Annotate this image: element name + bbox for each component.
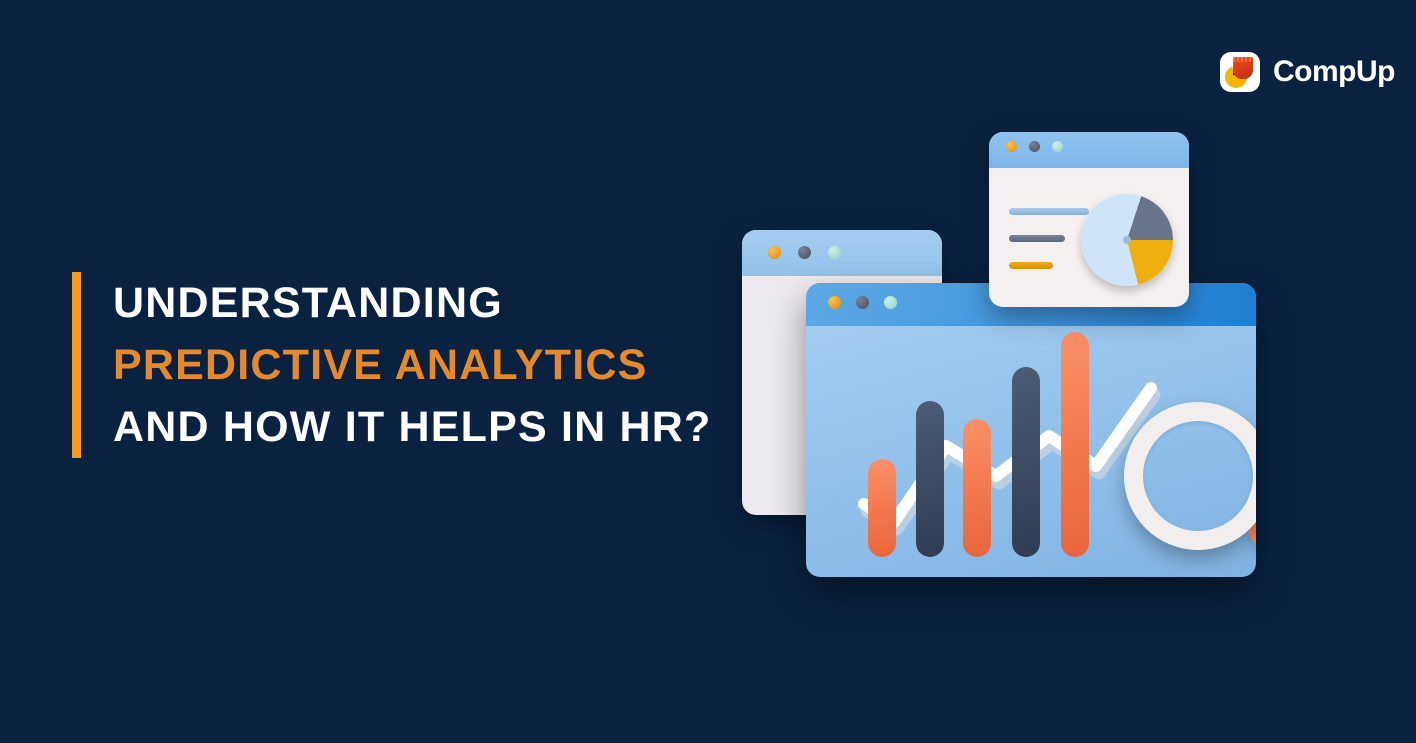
window-dot-gray-icon <box>856 296 869 309</box>
headline-line-3: AND HOW IT HELPS IN HR? <box>113 396 712 458</box>
compup-logo-icon <box>1220 52 1260 92</box>
hero-illustration <box>735 120 1335 600</box>
brand-name: CompUp <box>1273 55 1395 89</box>
bar-chart <box>806 326 1256 577</box>
legend-line-blue <box>1009 208 1089 215</box>
headline-block: UNDERSTANDING PREDICTIVE ANALYTICS AND H… <box>72 272 712 458</box>
window-dot-teal-icon <box>1052 141 1063 152</box>
headline-line-2: PREDICTIVE ANALYTICS <box>113 334 712 396</box>
bar-4 <box>1012 367 1040 557</box>
main-chart-window <box>806 283 1256 577</box>
window-dot-gray-icon <box>1029 141 1040 152</box>
pie-chart-body <box>989 168 1189 307</box>
brand-logo[interactable]: CompUp <box>1220 52 1395 92</box>
logo-shield-shape <box>1233 57 1253 79</box>
bar-3 <box>963 419 991 557</box>
back-window-dots <box>742 230 942 259</box>
pie-window <box>989 132 1189 307</box>
window-dot-orange-icon <box>768 246 781 259</box>
legend-line-gold <box>1009 262 1053 269</box>
headline-line-1: UNDERSTANDING <box>113 272 712 334</box>
window-dot-teal-icon <box>828 246 841 259</box>
pie-window-titlebar <box>989 132 1189 168</box>
bar-1 <box>868 459 896 557</box>
back-window-titlebar <box>742 230 942 276</box>
pie-legend <box>1009 208 1089 289</box>
window-dot-orange-icon <box>1006 141 1017 152</box>
headline-lines: UNDERSTANDING PREDICTIVE ANALYTICS AND H… <box>113 272 712 458</box>
pie-window-dots <box>989 132 1189 152</box>
window-dot-gray-icon <box>798 246 811 259</box>
legend-line-gray <box>1009 235 1065 242</box>
accent-bar <box>72 272 81 458</box>
bar-5 <box>1061 332 1089 557</box>
window-dot-orange-icon <box>828 296 841 309</box>
pie-center-hub <box>1123 236 1131 244</box>
window-dot-teal-icon <box>884 296 897 309</box>
pie-chart <box>1081 194 1173 286</box>
bar-2 <box>916 401 944 557</box>
